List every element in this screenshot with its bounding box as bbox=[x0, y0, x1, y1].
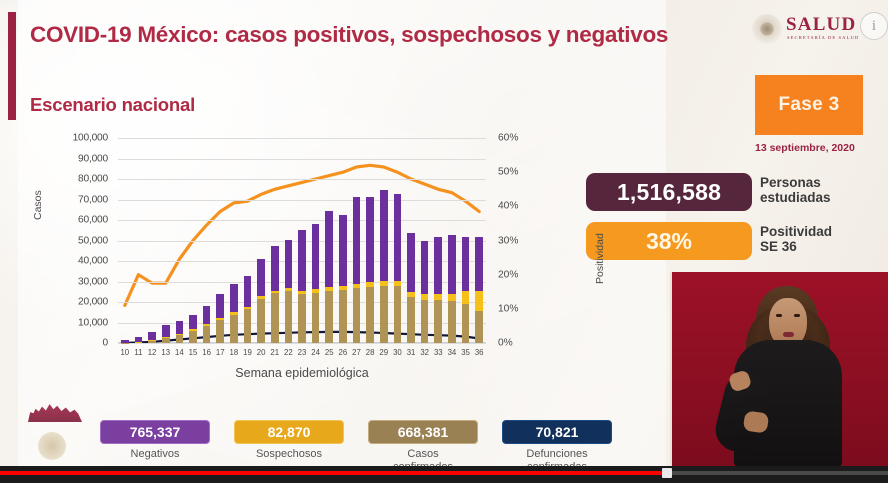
chart-bar-segment bbox=[257, 296, 265, 299]
chart-bar-segment bbox=[434, 300, 442, 343]
summary-value-badge: 70,821 bbox=[502, 420, 612, 444]
chart-bar-segment bbox=[434, 294, 442, 300]
x-axis-title: Semana epidemiológica bbox=[118, 366, 486, 380]
x-tick-label: 11 bbox=[134, 348, 142, 357]
chart-bar bbox=[121, 340, 129, 343]
chart-bar-segment bbox=[366, 282, 374, 286]
fase-label: Fase 3 bbox=[779, 94, 840, 116]
chart-bar-segment bbox=[407, 297, 415, 343]
x-tick-label: 30 bbox=[393, 348, 402, 357]
x-tick-label: 23 bbox=[298, 348, 307, 357]
grid-line bbox=[118, 138, 486, 139]
personas-estudiadas-label-line2: estudiadas bbox=[760, 190, 885, 205]
personas-estudiadas-label-line1: Personas bbox=[760, 175, 885, 190]
x-tick-label: 28 bbox=[366, 348, 375, 357]
summary-item-label-line1: Defunciones bbox=[502, 448, 612, 461]
x-tick-label: 29 bbox=[379, 348, 388, 357]
y-tick-label-left: 0 bbox=[34, 338, 108, 349]
info-icon[interactable]: i bbox=[860, 12, 888, 40]
grid-line bbox=[118, 179, 486, 180]
chart-bar bbox=[189, 315, 197, 343]
chart-bar-segment bbox=[176, 335, 184, 343]
x-tick-label: 19 bbox=[243, 348, 252, 357]
x-tick-label: 36 bbox=[475, 348, 484, 357]
x-tick-label: 35 bbox=[461, 348, 470, 357]
chart-bar-segment bbox=[366, 287, 374, 343]
slide-viewer: COVID-19 México: casos positivos, sospec… bbox=[0, 0, 888, 483]
x-tick-label: 10 bbox=[120, 348, 129, 357]
y-tick-label-right: 30% bbox=[498, 235, 544, 246]
chart-bar-segment bbox=[216, 294, 224, 318]
chart-bar bbox=[312, 224, 320, 343]
emblem-figures bbox=[28, 400, 82, 422]
chart-bar-segment bbox=[271, 293, 279, 343]
chart-bar-segment bbox=[162, 325, 170, 338]
chart-bar bbox=[203, 306, 211, 343]
chart-bar-segment bbox=[121, 340, 129, 343]
y-tick-label-right: 20% bbox=[498, 269, 544, 280]
summary-value-badge: 82,870 bbox=[234, 420, 344, 444]
fase-badge: Fase 3 bbox=[755, 75, 863, 135]
chart-bar bbox=[434, 237, 442, 343]
chart-bar-segment bbox=[448, 301, 456, 343]
x-tick-label: 26 bbox=[339, 348, 348, 357]
chart-bar-segment bbox=[353, 288, 361, 343]
x-tick-label: 31 bbox=[407, 348, 416, 357]
chart-bar-segment bbox=[230, 315, 238, 343]
x-tick-label: 22 bbox=[284, 348, 293, 357]
chart-bar-segment bbox=[271, 291, 279, 294]
x-tick-label: 17 bbox=[216, 348, 225, 357]
chart-bar-segment bbox=[380, 190, 388, 281]
personas-estudiadas-value: 1,516,588 bbox=[617, 179, 721, 206]
grid-line bbox=[118, 220, 486, 221]
chart-bar-segment bbox=[394, 281, 402, 286]
x-tick-label: 20 bbox=[257, 348, 266, 357]
chart-bar-segment bbox=[462, 304, 470, 343]
summary-item-label: Sospechosos bbox=[234, 448, 344, 461]
chart-bar-segment bbox=[230, 312, 238, 314]
chart-bar-segment bbox=[312, 224, 320, 289]
chart-bar-segment bbox=[285, 288, 293, 291]
chart-bar-segment bbox=[203, 306, 211, 324]
chart-bar-segment bbox=[298, 294, 306, 343]
chart-bar-segment bbox=[271, 246, 279, 290]
chart-bar bbox=[271, 246, 279, 343]
chart-bar-segment bbox=[298, 230, 306, 290]
accent-bar bbox=[8, 12, 16, 120]
y-tick-label-left: 90,000 bbox=[34, 153, 108, 164]
chart-bar-segment bbox=[216, 320, 224, 343]
chart-bar-segment bbox=[244, 276, 252, 306]
chart-bar-segment bbox=[380, 286, 388, 343]
salud-wordmark: SALUD bbox=[786, 14, 856, 36]
chart-bar-segment bbox=[421, 294, 429, 300]
x-tick-label: 32 bbox=[420, 348, 429, 357]
video-player-controls[interactable] bbox=[0, 466, 888, 483]
chart-bar-segment bbox=[189, 331, 197, 344]
x-tick-label: 21 bbox=[270, 348, 279, 357]
y-axis-title-right: Positividad bbox=[594, 233, 606, 284]
chart-bar-segment bbox=[244, 307, 252, 309]
chart-bar bbox=[216, 294, 224, 343]
chart-bar-segment bbox=[325, 291, 333, 343]
chart-bar-segment bbox=[203, 326, 211, 343]
summary-value-badge: 765,337 bbox=[100, 420, 210, 444]
slide-canvas: COVID-19 México: casos positivos, sospec… bbox=[0, 0, 888, 466]
summary-item-label-line1: Casos bbox=[368, 448, 478, 461]
chart-bar-segment bbox=[462, 291, 470, 304]
chart-bar-segment bbox=[366, 197, 374, 282]
positividad-value: 38% bbox=[646, 228, 692, 255]
plot-area bbox=[118, 138, 486, 343]
grid-line bbox=[118, 343, 486, 344]
y-tick-label-right: 60% bbox=[498, 133, 544, 144]
chart-bar-segment bbox=[285, 291, 293, 343]
x-tick-label: 25 bbox=[325, 348, 334, 357]
x-tick-label: 15 bbox=[189, 348, 198, 357]
emblem-seal-icon bbox=[38, 432, 66, 460]
chart-bar bbox=[407, 233, 415, 343]
chart-bar-segment bbox=[448, 235, 456, 294]
interpreter-hand-lower bbox=[743, 410, 770, 433]
chart-bar-segment bbox=[339, 215, 347, 286]
government-emblem bbox=[18, 396, 90, 466]
mexico-coat-of-arms-icon bbox=[752, 14, 782, 44]
chart-bar bbox=[394, 194, 402, 343]
chart-bar bbox=[298, 230, 306, 343]
chart-bar-segment bbox=[448, 294, 456, 301]
chart-bar-segment bbox=[148, 341, 156, 343]
y-tick-label-left: 50,000 bbox=[34, 235, 108, 246]
chart-bar bbox=[448, 235, 456, 343]
salud-tagline: SECRETARÍA DE SALUD bbox=[787, 35, 859, 40]
chart-bar-segment bbox=[325, 211, 333, 287]
y-tick-label-right: 50% bbox=[498, 167, 544, 178]
y-tick-label-left: 60,000 bbox=[34, 215, 108, 226]
chart-bar-segment bbox=[394, 194, 402, 282]
page-title: COVID-19 México: casos positivos, sospec… bbox=[30, 22, 710, 48]
chart-bar-segment bbox=[230, 284, 238, 312]
y-tick-label-right: 10% bbox=[498, 303, 544, 314]
chart-bar-segment bbox=[353, 284, 361, 288]
x-tick-label: 18 bbox=[230, 348, 239, 357]
x-tick-label: 24 bbox=[311, 348, 320, 357]
chart-bar-segment bbox=[285, 240, 293, 289]
chart-bar bbox=[257, 259, 265, 343]
chart-bar bbox=[244, 276, 252, 343]
x-tick-label: 13 bbox=[161, 348, 170, 357]
chart-bar-segment bbox=[148, 340, 156, 341]
y-tick-label-right: 0% bbox=[498, 338, 544, 349]
chart-bar-segment bbox=[312, 293, 320, 343]
chart-bar-segment bbox=[475, 237, 483, 291]
chart-bar-segment bbox=[162, 337, 170, 338]
y-tick-label-right: 40% bbox=[498, 201, 544, 212]
chart-bar-segment bbox=[353, 197, 361, 283]
sign-language-interpreter-video[interactable] bbox=[670, 272, 888, 466]
chart-bar-segment bbox=[135, 337, 143, 342]
grid-line bbox=[118, 159, 486, 160]
chart-bar bbox=[462, 237, 470, 343]
x-tick-label: 16 bbox=[202, 348, 211, 357]
x-tick-label: 14 bbox=[175, 348, 184, 357]
grid-line bbox=[118, 200, 486, 201]
chart-bar-segment bbox=[135, 342, 143, 343]
chart-bar-segment bbox=[475, 311, 483, 343]
y-tick-label-left: 80,000 bbox=[34, 174, 108, 185]
personas-estudiadas-label: Personas estudiadas bbox=[760, 175, 885, 205]
interpreter-eye-right bbox=[794, 314, 800, 317]
chart-bar-segment bbox=[462, 237, 470, 291]
positividad-label-line1: Positividad bbox=[760, 224, 885, 239]
report-date: 13 septiembre, 2020 bbox=[755, 142, 885, 154]
chart-bar-segment bbox=[312, 289, 320, 292]
y-tick-label-left: 20,000 bbox=[34, 297, 108, 308]
section-subtitle: Escenario nacional bbox=[30, 94, 195, 116]
chart-bar bbox=[421, 241, 429, 343]
chart-bar-segment bbox=[176, 321, 184, 334]
chart-bar bbox=[230, 284, 238, 343]
x-tick-label: 34 bbox=[448, 348, 457, 357]
x-tick-label: 33 bbox=[434, 348, 443, 357]
summary-value-badge: 668,381 bbox=[368, 420, 478, 444]
x-tick-label: 27 bbox=[352, 348, 361, 357]
positividad-label-line2: SE 36 bbox=[760, 239, 885, 254]
chart-bar-segment bbox=[421, 241, 429, 294]
y-tick-label-left: 100,000 bbox=[34, 133, 108, 144]
chart-bar-segment bbox=[244, 309, 252, 343]
chart-bar bbox=[135, 337, 143, 343]
progress-played bbox=[0, 471, 666, 475]
y-tick-label-left: 40,000 bbox=[34, 256, 108, 267]
y-tick-label-left: 70,000 bbox=[34, 194, 108, 205]
epidemic-curve-chart: Casos Positividad Semana epidemiológica … bbox=[34, 128, 626, 386]
chart-bar bbox=[353, 197, 361, 343]
interpreter-mouth bbox=[783, 332, 794, 337]
chart-bar bbox=[366, 197, 374, 343]
chart-bar bbox=[325, 211, 333, 343]
chart-bar-segment bbox=[475, 291, 483, 310]
chart-bar-segment bbox=[162, 338, 170, 343]
chart-bar-segment bbox=[394, 286, 402, 343]
chart-bar-segment bbox=[257, 299, 265, 343]
chart-bar-segment bbox=[380, 281, 388, 286]
chart-bar-segment bbox=[148, 332, 156, 340]
progress-knob[interactable] bbox=[662, 468, 672, 478]
summary-item-label: Negativos bbox=[100, 448, 210, 461]
chart-bar-segment bbox=[421, 300, 429, 343]
chart-bar-segment bbox=[339, 290, 347, 343]
chart-bar-segment bbox=[189, 329, 197, 331]
y-tick-label-left: 30,000 bbox=[34, 276, 108, 287]
chart-bar-segment bbox=[407, 292, 415, 297]
salud-logo: SALUD SECRETARÍA DE SALUD i bbox=[752, 10, 882, 50]
chart-bar-segment bbox=[189, 315, 197, 329]
interpreter-eye-left bbox=[776, 314, 782, 317]
positividad-label: Positividad SE 36 bbox=[760, 224, 885, 254]
chart-bar bbox=[148, 332, 156, 343]
chart-bar bbox=[339, 215, 347, 343]
chart-bar bbox=[285, 239, 293, 343]
chart-bar-segment bbox=[298, 291, 306, 294]
x-tick-label: 12 bbox=[148, 348, 157, 357]
chart-bar bbox=[176, 321, 184, 343]
chart-bar-segment bbox=[176, 334, 184, 335]
chart-bar-segment bbox=[407, 233, 415, 291]
chart-bar-segment bbox=[434, 237, 442, 294]
chart-bar bbox=[162, 325, 170, 343]
chart-bar-segment bbox=[339, 286, 347, 290]
chart-bar-segment bbox=[325, 287, 333, 291]
chart-bar bbox=[380, 190, 388, 343]
chart-bar-segment bbox=[216, 318, 224, 320]
y-tick-label-left: 10,000 bbox=[34, 317, 108, 328]
chart-bar bbox=[475, 237, 483, 343]
chart-bar-segment bbox=[257, 259, 265, 296]
chart-bar-segment bbox=[203, 324, 211, 326]
